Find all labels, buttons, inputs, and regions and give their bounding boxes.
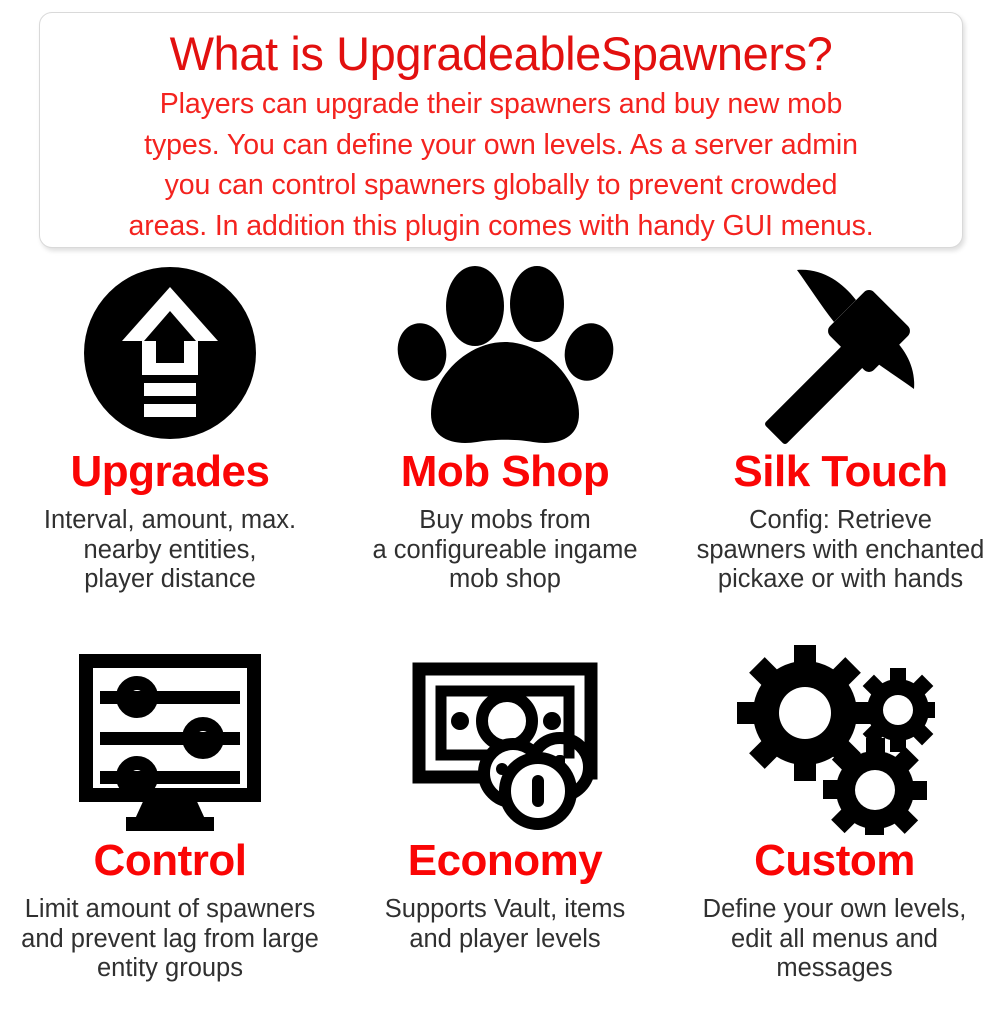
feature-card-silk-touch: Silk Touch Config: Retrieve spawners wit… — [670, 262, 999, 642]
feature-desc-line: edit all menus and — [670, 925, 999, 955]
feature-desc-line: Limit amount of spawners — [0, 895, 340, 925]
feature-card-mob-shop: Mob Shop Buy mobs from a configureable i… — [340, 262, 670, 642]
gears-icon — [670, 642, 999, 837]
feature-desc-line: Define your own levels, — [670, 895, 999, 925]
feature-description: Limit amount of spawners and prevent lag… — [0, 895, 340, 984]
feature-desc-line: pickaxe or with hands — [676, 565, 999, 595]
feature-title: Upgrades — [0, 450, 340, 494]
banner-line: areas. In addition this plugin comes wit… — [56, 206, 946, 246]
feature-desc-line: Interval, amount, max. — [0, 506, 340, 536]
feature-desc-line: mob shop — [340, 565, 670, 595]
banner-line: you can control spawners globally to pre… — [56, 165, 946, 205]
feature-description: Interval, amount, max. nearby entities, … — [0, 506, 340, 595]
banknote-coins-icon — [340, 642, 670, 837]
feature-title: Control — [0, 839, 340, 883]
pickaxe-icon — [670, 262, 999, 444]
banner-description: Players can upgrade their spawners and b… — [52, 84, 950, 246]
feature-desc-line: Config: Retrieve — [676, 506, 999, 536]
paw-print-icon — [340, 262, 670, 444]
feature-description: Config: Retrieve spawners with enchanted… — [676, 506, 999, 595]
banner-line: types. You can define your own levels. A… — [56, 125, 946, 165]
feature-desc-line: a configureable ingame — [340, 536, 670, 566]
feature-desc-line: and prevent lag from large — [0, 925, 340, 955]
feature-description: Define your own levels, edit all menus a… — [670, 895, 999, 984]
feature-card-control: Control Limit amount of spawners and pre… — [0, 642, 340, 1022]
upgrade-arrow-circle-icon — [0, 262, 340, 444]
feature-card-economy: Economy Supports Vault, items and player… — [340, 642, 670, 1022]
monitor-sliders-icon — [0, 642, 340, 837]
feature-grid: Upgrades Interval, amount, max. nearby e… — [0, 262, 999, 1022]
feature-desc-line: player distance — [0, 565, 340, 595]
feature-desc-line: Supports Vault, items — [340, 895, 670, 925]
feature-card-custom: Custom Define your own levels, edit all … — [670, 642, 999, 1022]
feature-card-upgrades: Upgrades Interval, amount, max. nearby e… — [0, 262, 340, 642]
feature-desc-line: and player levels — [340, 925, 670, 955]
feature-title: Mob Shop — [340, 450, 670, 494]
feature-title: Silk Touch — [676, 450, 999, 494]
feature-desc-line: Buy mobs from — [340, 506, 670, 536]
banner-line: Players can upgrade their spawners and b… — [56, 84, 946, 124]
feature-title: Economy — [340, 839, 670, 883]
intro-banner-card: What is UpgradeableSpawners? Players can… — [39, 12, 963, 248]
feature-desc-line: nearby entities, — [0, 536, 340, 566]
feature-desc-line: spawners with enchanted — [676, 536, 999, 566]
feature-description: Buy mobs from a configureable ingame mob… — [340, 506, 670, 595]
feature-desc-line: entity groups — [0, 954, 340, 984]
banner-title: What is UpgradeableSpawners? — [52, 25, 950, 82]
feature-title: Custom — [670, 839, 999, 883]
feature-desc-line: messages — [670, 954, 999, 984]
feature-description: Supports Vault, items and player levels — [340, 895, 670, 954]
